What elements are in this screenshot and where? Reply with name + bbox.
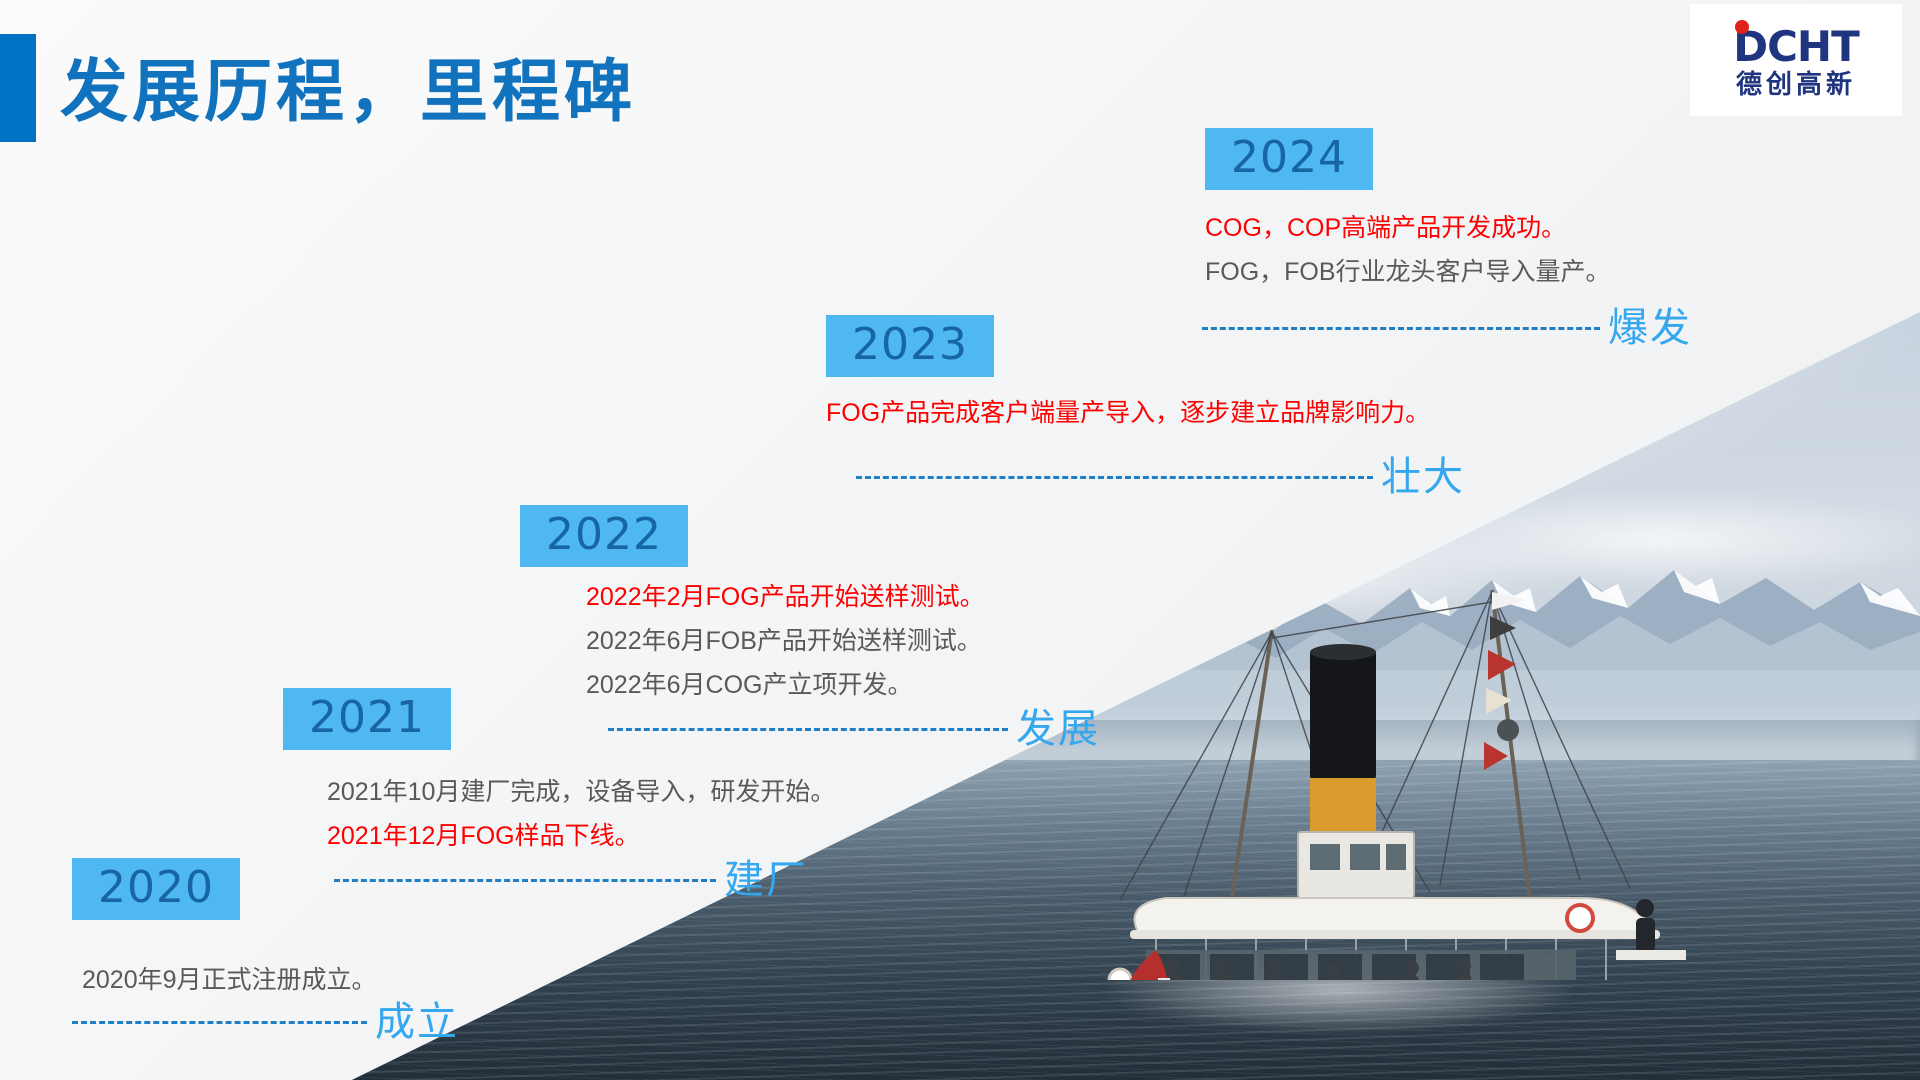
page-title: 发展历程，里程碑 bbox=[60, 36, 636, 135]
milestone-line: 2021年10月建厂完成，设备导入，研发开始。 bbox=[327, 770, 835, 814]
title-accent-bar bbox=[0, 34, 36, 142]
milestone-2020: 2020 2020年9月正式注册成立。 成立 bbox=[72, 858, 459, 1046]
milestone-line: 2020年9月正式注册成立。 bbox=[82, 958, 459, 1002]
steamboat-illustration bbox=[1060, 480, 1720, 980]
year-chip-2024: 2024 bbox=[1205, 128, 1373, 190]
dashed-connector bbox=[72, 1021, 367, 1024]
slide-root: 发展历程，里程碑 DCHT 德创高新 2024 COG，COP高端产品开发成功。… bbox=[0, 0, 1920, 1080]
milestone-tag: 壮大 bbox=[1381, 453, 1465, 501]
year-chip-2020: 2020 bbox=[72, 858, 240, 920]
milestone-lines-2024: COG，COP高端产品开发成功。 FOG，FOB行业龙头客户导入量产。 bbox=[1205, 206, 1692, 294]
milestone-line: COG，COP高端产品开发成功。 bbox=[1205, 206, 1692, 250]
year-chip-2021: 2021 bbox=[283, 688, 451, 750]
year-chip-2023: 2023 bbox=[826, 315, 994, 377]
logo-chinese-name: 德创高新 bbox=[1736, 70, 1856, 98]
milestone-line: FOG，FOB行业龙头客户导入量产。 bbox=[1205, 250, 1692, 294]
milestone-line: 2022年2月FOG产品开始送样测试。 bbox=[586, 575, 1100, 619]
milestone-tagrow-2023: 壮大 bbox=[856, 453, 1465, 501]
milestone-line: 2021年12月FOG样品下线。 bbox=[327, 814, 835, 858]
logo-mark: DCHT bbox=[1733, 22, 1859, 68]
milestone-lines-2021: 2021年10月建厂完成，设备导入，研发开始。 2021年12月FOG样品下线。 bbox=[327, 770, 835, 858]
milestone-tag: 发展 bbox=[1016, 705, 1100, 753]
milestone-tag: 爆发 bbox=[1608, 304, 1692, 352]
year-chip-2022: 2022 bbox=[520, 505, 688, 567]
milestone-line: 2022年6月FOB产品开始送样测试。 bbox=[586, 619, 1100, 663]
logo-wordmark: DCHT bbox=[1733, 26, 1859, 68]
company-logo: DCHT 德创高新 bbox=[1690, 4, 1902, 116]
milestone-2023: 2023 FOG产品完成客户端量产导入，逐步建立品牌影响力。 壮大 bbox=[826, 315, 1465, 501]
dashed-connector bbox=[856, 476, 1373, 479]
milestone-tag: 建厂 bbox=[724, 856, 808, 904]
milestone-lines-2020: 2020年9月正式注册成立。 bbox=[82, 958, 459, 1002]
milestone-line: FOG产品完成客户端量产导入，逐步建立品牌影响力。 bbox=[826, 391, 1465, 435]
milestone-tag: 成立 bbox=[375, 998, 459, 1046]
milestone-lines-2023: FOG产品完成客户端量产导入，逐步建立品牌影响力。 bbox=[826, 391, 1465, 435]
milestone-tagrow-2020: 成立 bbox=[72, 998, 459, 1046]
